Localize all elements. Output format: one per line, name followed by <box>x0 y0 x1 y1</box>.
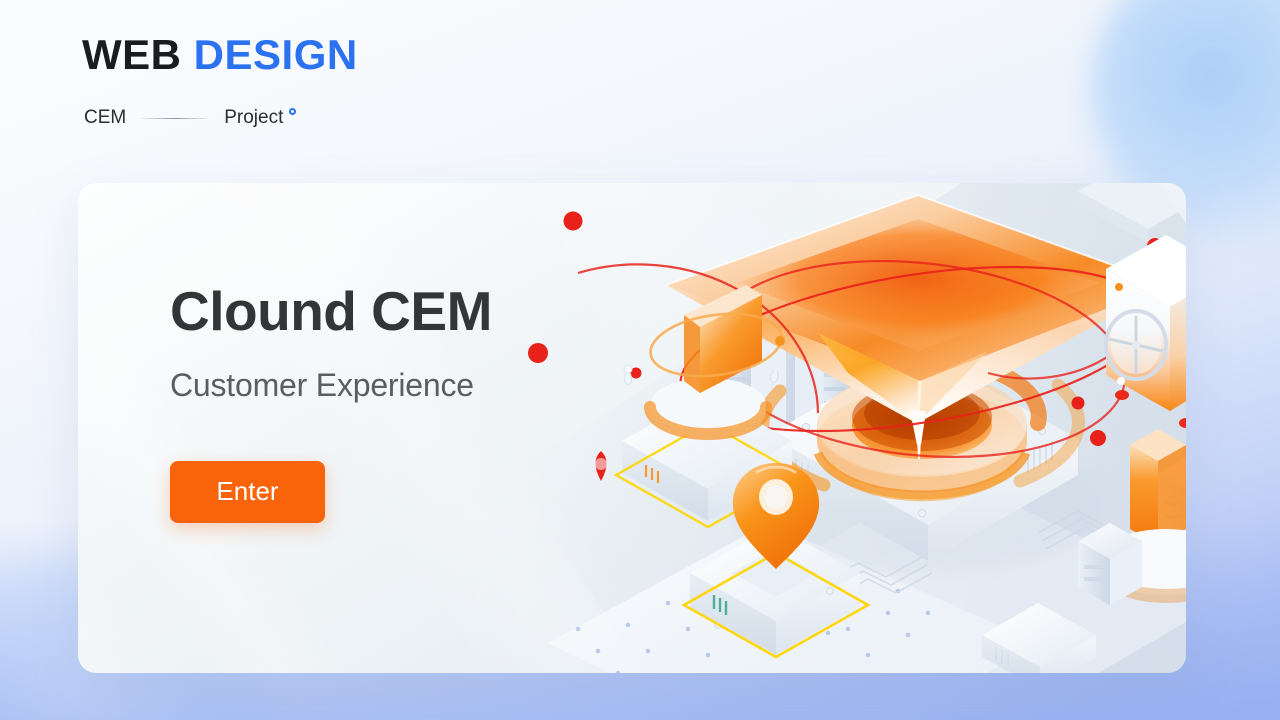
hero-copy: Clound CEM Customer Experience Enter <box>170 283 690 523</box>
page-header: WEB DESIGN CEM Project <box>82 34 358 129</box>
page-background: WEB DESIGN CEM Project <box>0 0 1280 720</box>
logo-word-web: WEB <box>82 31 182 78</box>
degree-marker-icon <box>289 108 296 115</box>
hero-card: Clound CEM Customer Experience Enter <box>78 183 1186 673</box>
breadcrumb: CEM Project <box>82 107 358 129</box>
breadcrumb-divider-line <box>142 118 208 119</box>
logo-word-design: DESIGN <box>194 31 358 78</box>
vault-device <box>1106 235 1186 428</box>
page-title: Clound CEM <box>170 283 690 341</box>
breadcrumb-item-cem[interactable]: CEM <box>84 107 126 129</box>
enter-button[interactable]: Enter <box>170 461 325 523</box>
logo: WEB DESIGN <box>82 34 358 76</box>
breadcrumb-item-project[interactable]: Project <box>224 107 283 129</box>
page-subtitle: Customer Experience <box>170 367 690 404</box>
